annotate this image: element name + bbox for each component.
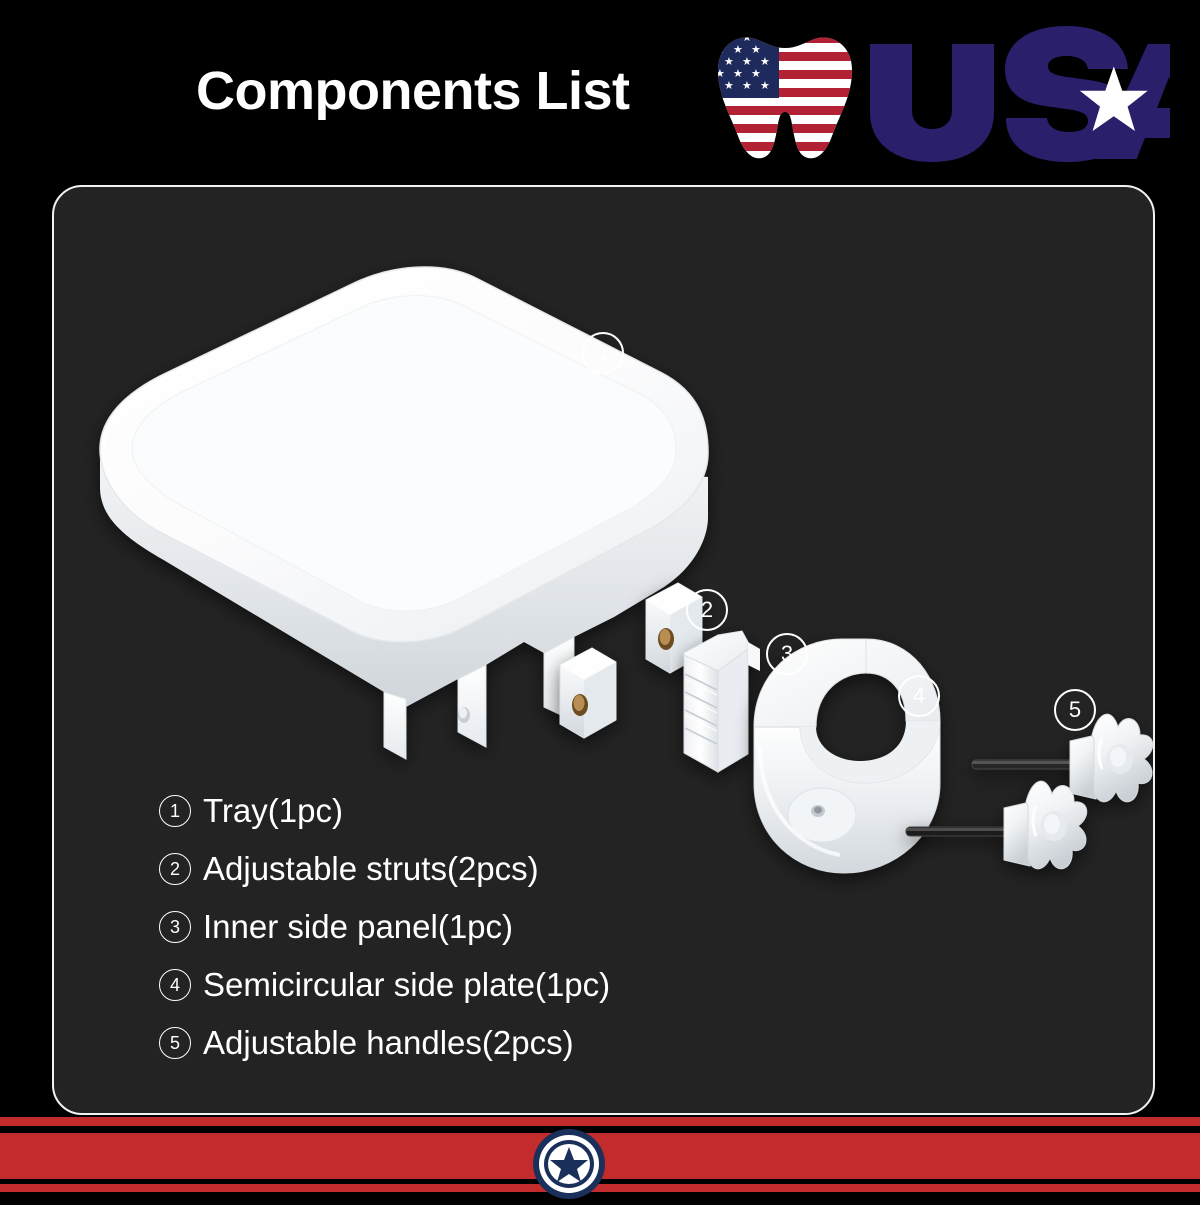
callout-1: 1 xyxy=(582,332,624,374)
legend-number-1: 1 xyxy=(159,795,191,827)
callout-5: 5 xyxy=(1054,689,1096,731)
legend-item-4: 4 Semicircular side plate(1pc) xyxy=(159,956,610,1014)
adjustable-handle-part xyxy=(906,714,1153,869)
svg-text:★: ★ xyxy=(706,31,716,44)
legend-number-2: 2 xyxy=(159,853,191,885)
tooth-flag-icon: ★★★★ ★★★ ★★★★ ★★★ ★★★★ xyxy=(700,26,870,166)
svg-text:★: ★ xyxy=(706,79,716,92)
svg-text:★: ★ xyxy=(706,55,716,68)
page-title: Components List xyxy=(196,60,630,122)
legend-number-4: 4 xyxy=(159,969,191,1001)
legend-list: 1 Tray(1pc) 2 Adjustable struts(2pcs) 3 … xyxy=(159,782,610,1072)
legend-label-4: Semicircular side plate(1pc) xyxy=(203,966,610,1004)
callout-4: 4 xyxy=(898,675,940,717)
star-emblem-icon xyxy=(532,1128,606,1200)
svg-text:★: ★ xyxy=(760,79,770,92)
legend-item-1: 1 Tray(1pc) xyxy=(159,782,610,840)
brand-logo: ★★★★ ★★★ ★★★★ ★★★ ★★★★ xyxy=(700,26,1170,166)
svg-text:★: ★ xyxy=(760,55,770,68)
svg-text:★: ★ xyxy=(760,31,770,44)
legend-number-5: 5 xyxy=(159,1027,191,1059)
svg-text:★: ★ xyxy=(724,79,734,92)
callout-3: 3 xyxy=(766,633,808,675)
legend-number-3: 3 xyxy=(159,911,191,943)
legend-label-2: Adjustable struts(2pcs) xyxy=(203,850,539,888)
legend-label-1: Tray(1pc) xyxy=(203,792,343,830)
legend-label-3: Inner side panel(1pc) xyxy=(203,908,513,946)
inner-side-panel-part xyxy=(684,631,760,772)
exploded-view-stage: 1 2 3 4 5 1 Tray(1pc) 2 Adjustable strut… xyxy=(54,187,1153,1113)
legend-item-3: 3 Inner side panel(1pc) xyxy=(159,898,610,956)
page-root: Components List xyxy=(0,0,1200,1200)
legend-item-2: 2 Adjustable struts(2pcs) xyxy=(159,840,610,898)
banner-stripe-top xyxy=(0,1117,1200,1126)
svg-text:★: ★ xyxy=(742,79,752,92)
callout-2: 2 xyxy=(686,589,728,631)
content-card: 1 2 3 4 5 1 Tray(1pc) 2 Adjustable strut… xyxy=(52,185,1155,1115)
legend-item-5: 5 Adjustable handles(2pcs) xyxy=(159,1014,610,1072)
header: Components List xyxy=(0,0,1200,185)
legend-label-5: Adjustable handles(2pcs) xyxy=(203,1024,574,1062)
